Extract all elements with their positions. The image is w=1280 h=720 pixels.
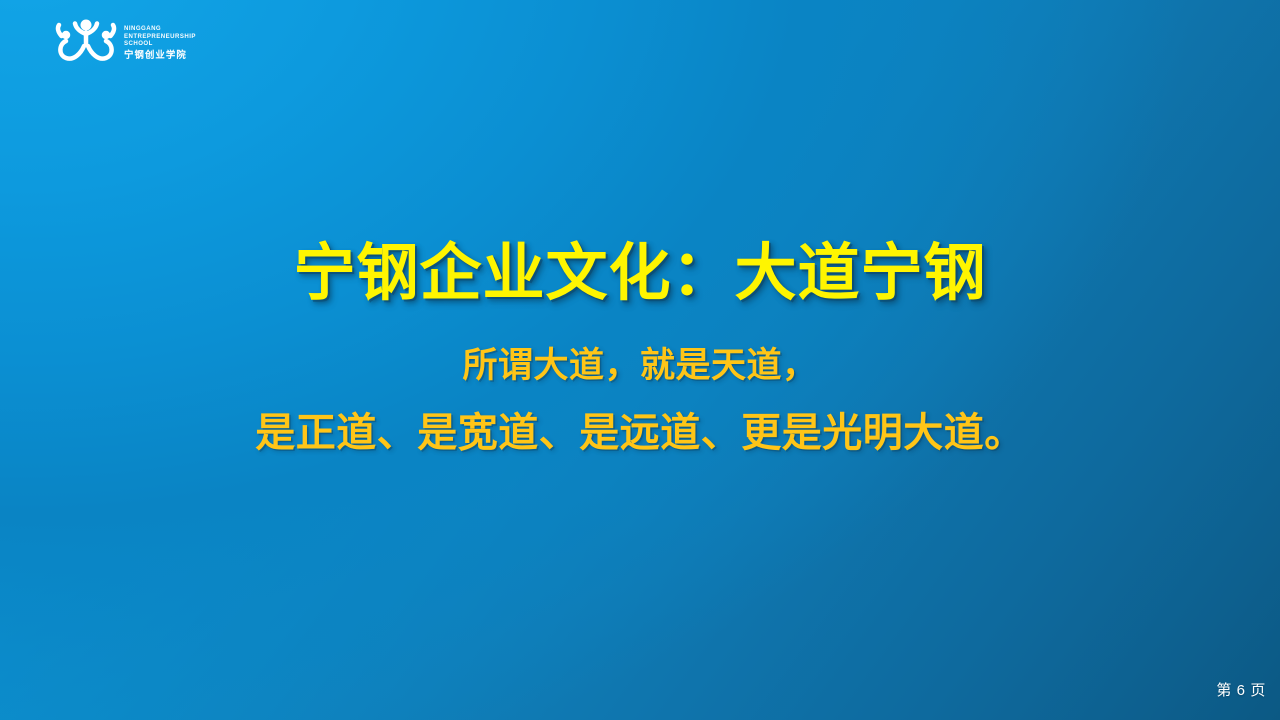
slide-title: 宁钢企业文化：大道宁钢 [0,237,1280,311]
page-number-label: 第 6 页 [1216,681,1266,700]
logo-text-block: NINGGANG ENTREPRENEURSHIP SCHOOL 宁钢创业学院 [124,23,196,61]
logo-chinese-name: 宁钢创业学院 [124,49,196,61]
logo-english-line-2: ENTREPRENEURSHIP [124,33,196,40]
logo-english-line-3: SCHOOL [124,40,196,47]
body-line-1: 所谓大道，就是天道， [0,342,1280,390]
body-line-2: 是正道、是宽道、是远道、更是光明大道。 [0,406,1280,460]
logo-english-line-1: NINGGANG [124,25,196,32]
slide-canvas: NINGGANG ENTREPRENEURSHIP SCHOOL 宁钢创业学院 … [0,0,1280,720]
slide-body: 所谓大道，就是天道， 是正道、是宽道、是远道、更是光明大道。 [0,342,1280,460]
three-people-linked-arms-logo-icon [55,17,117,67]
school-logo: NINGGANG ENTREPRENEURSHIP SCHOOL 宁钢创业学院 [55,17,196,67]
